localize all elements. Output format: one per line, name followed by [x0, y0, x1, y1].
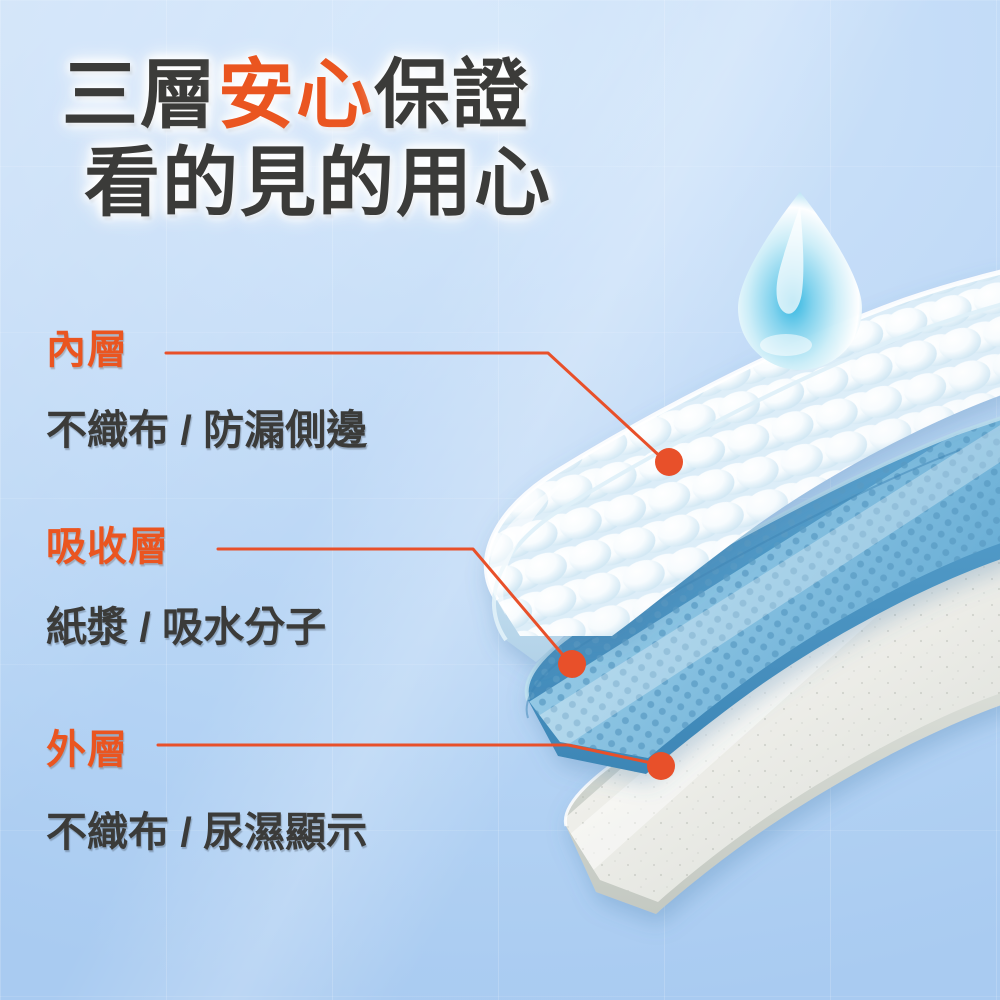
headline: 三層安心保證 看的見的用心: [62, 52, 662, 228]
label-block-absorbent: 吸收層 紙漿 / 吸水分子: [46, 527, 326, 648]
label-sub-outer: 不織布 / 尿濕顯示: [46, 812, 367, 853]
headline-line-1: 三層安心保證: [62, 52, 662, 140]
label-sub-inner: 不織布 / 防漏側邊: [46, 410, 367, 451]
label-head-absorbent: 吸收層: [46, 527, 326, 567]
label-sub-absorbent: 紙漿 / 吸水分子: [46, 607, 326, 648]
headline-suffix: 保證: [374, 53, 530, 138]
label-block-outer: 外層 不織布 / 尿濕顯示: [46, 730, 367, 853]
headline-prefix: 三層: [62, 53, 218, 138]
headline-line-2: 看的見的用心: [84, 140, 662, 228]
label-block-inner: 內層 不織布 / 防漏側邊: [46, 330, 367, 451]
headline-accent: 安心: [218, 53, 374, 138]
water-droplet: [738, 192, 862, 370]
label-head-outer: 外層: [46, 730, 367, 770]
label-head-inner: 內層: [46, 330, 367, 370]
